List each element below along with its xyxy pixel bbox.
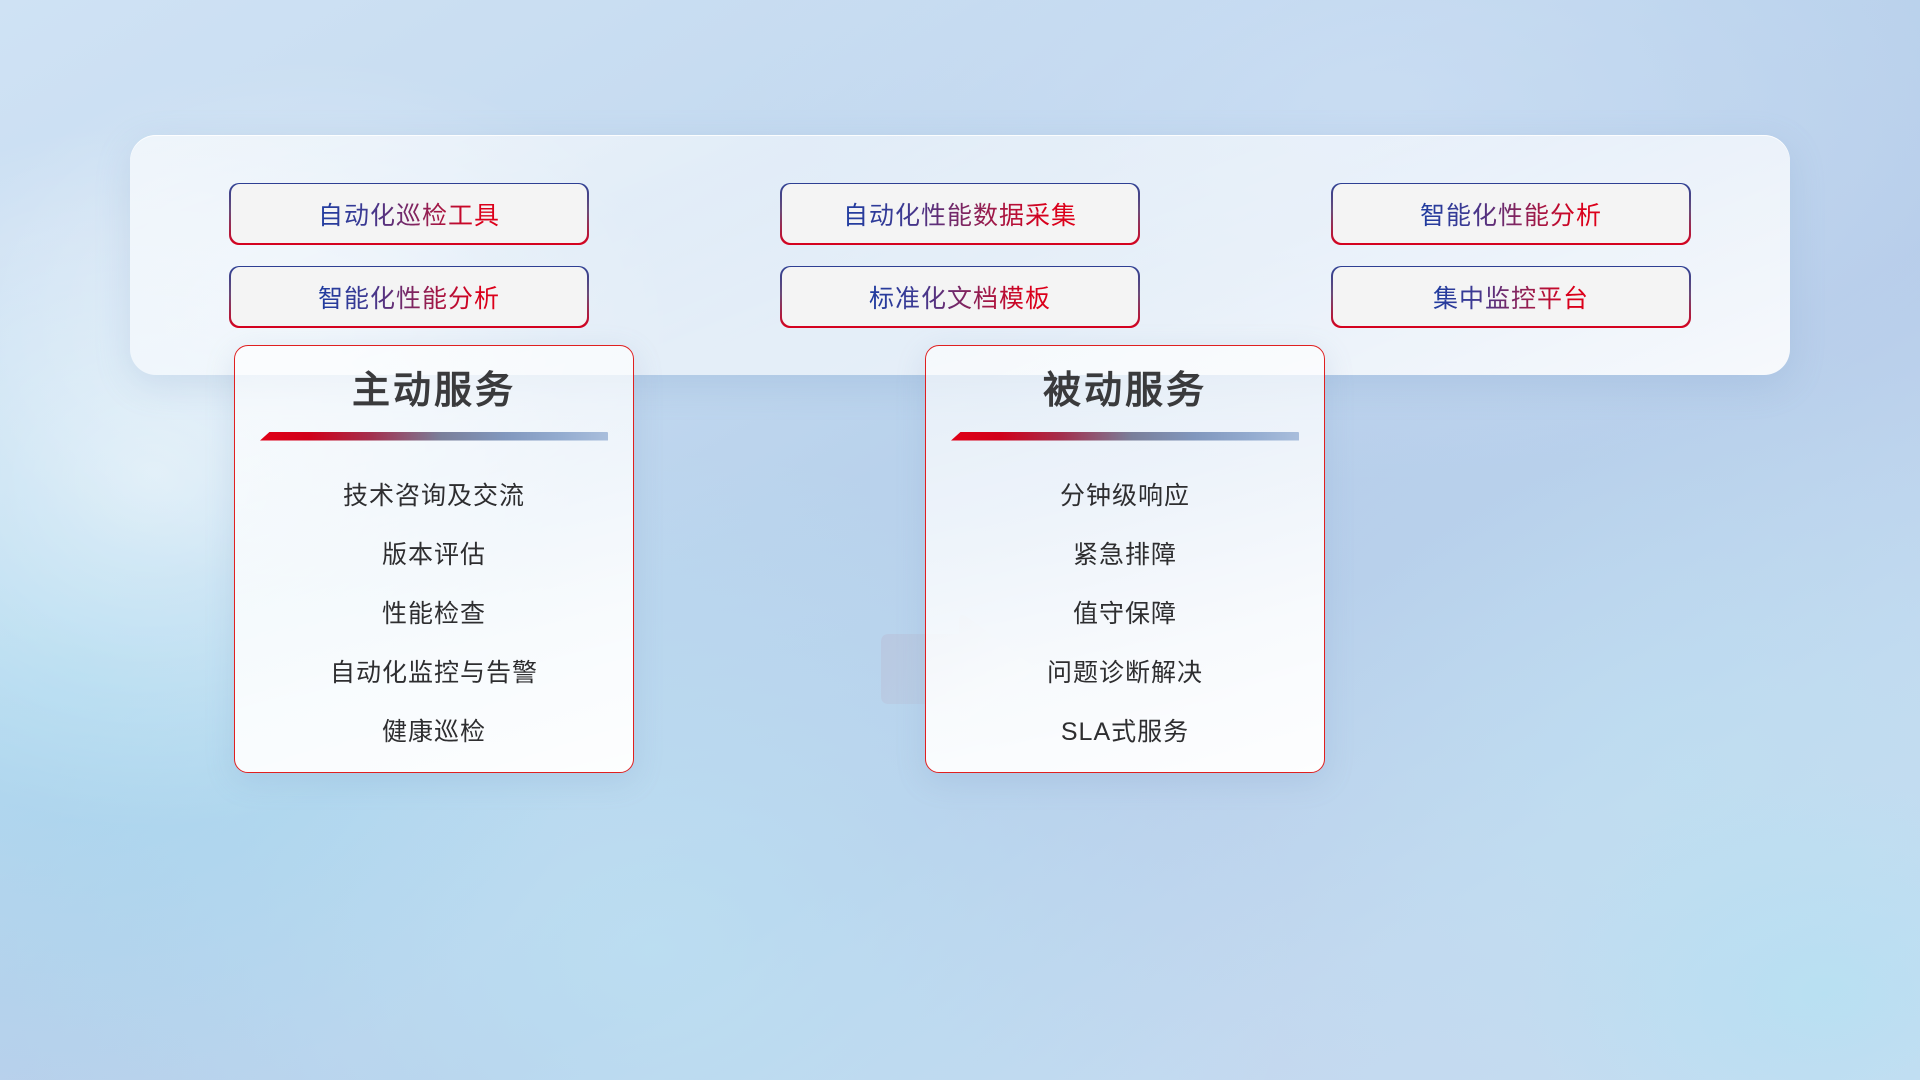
capability-pill-label: 自动化性能数据采集 [843, 196, 1077, 232]
list-item: 问题诊断解决 [1047, 644, 1203, 703]
capability-pill-centralized-monitoring-platform[interactable]: 集中监控平台 [1331, 266, 1691, 328]
service-card-proactive: 主动服务 技术咨询及交流 版本评估 性能检查 自动化监控与告警 健康巡检 [234, 345, 634, 773]
service-card-title: 主动服务 [352, 368, 516, 416]
diagram-stage: 自动化巡检工具 自动化性能数据采集 智能化性能分析 智能化性能分析 [0, 0, 1920, 1080]
list-item: 自动化监控与告警 [330, 644, 538, 703]
list-item: 值守保障 [1073, 585, 1177, 644]
capability-pill-body: 智能化性能分析 [231, 267, 588, 326]
capability-pill-standardized-document-template[interactable]: 标准化文档模板 [780, 266, 1140, 328]
capability-pill-automated-inspection-tool[interactable]: 自动化巡检工具 [229, 183, 589, 245]
list-item: 紧急排障 [1073, 526, 1177, 585]
service-item-list: 技术咨询及交流 版本评估 性能检查 自动化监控与告警 健康巡检 [235, 467, 633, 762]
capability-pill-body: 自动化巡检工具 [231, 184, 588, 243]
capabilities-grid: 自动化巡检工具 自动化性能数据采集 智能化性能分析 智能化性能分析 [229, 183, 1691, 328]
capability-pill-automated-performance-data-collection[interactable]: 自动化性能数据采集 [780, 183, 1140, 245]
capability-pill-intelligent-performance-analysis-1[interactable]: 智能化性能分析 [1331, 183, 1691, 245]
capability-pill-body: 标准化文档模板 [782, 267, 1139, 326]
list-item: 版本评估 [382, 526, 486, 585]
capability-pill-intelligent-performance-analysis-2[interactable]: 智能化性能分析 [229, 266, 589, 328]
capability-pill-label: 标准化文档模板 [869, 279, 1051, 315]
card-divider [951, 432, 1299, 441]
service-card-title: 被动服务 [1043, 368, 1207, 416]
card-divider [260, 432, 608, 441]
capability-pill-body: 自动化性能数据采集 [782, 184, 1139, 243]
list-item: 分钟级响应 [1060, 467, 1190, 526]
capability-pill-label: 智能化性能分析 [318, 279, 500, 315]
list-item: SLA式服务 [1061, 703, 1189, 762]
service-item-list: 分钟级响应 紧急排障 值守保障 问题诊断解决 SLA式服务 [926, 467, 1324, 762]
capability-pill-label: 集中监控平台 [1433, 279, 1589, 315]
capability-pill-label: 智能化性能分析 [1420, 196, 1602, 232]
list-item: 健康巡检 [382, 703, 486, 762]
list-item: 性能检查 [382, 585, 486, 644]
capability-pill-body: 集中监控平台 [1333, 267, 1690, 326]
capability-pill-body: 智能化性能分析 [1333, 184, 1690, 243]
capabilities-panel: 自动化巡检工具 自动化性能数据采集 智能化性能分析 智能化性能分析 [130, 135, 1790, 375]
service-card-reactive: 被动服务 分钟级响应 紧急排障 值守保障 问题诊断解决 SLA式服务 [925, 345, 1325, 773]
capability-pill-label: 自动化巡检工具 [318, 196, 500, 232]
list-item: 技术咨询及交流 [343, 467, 525, 526]
